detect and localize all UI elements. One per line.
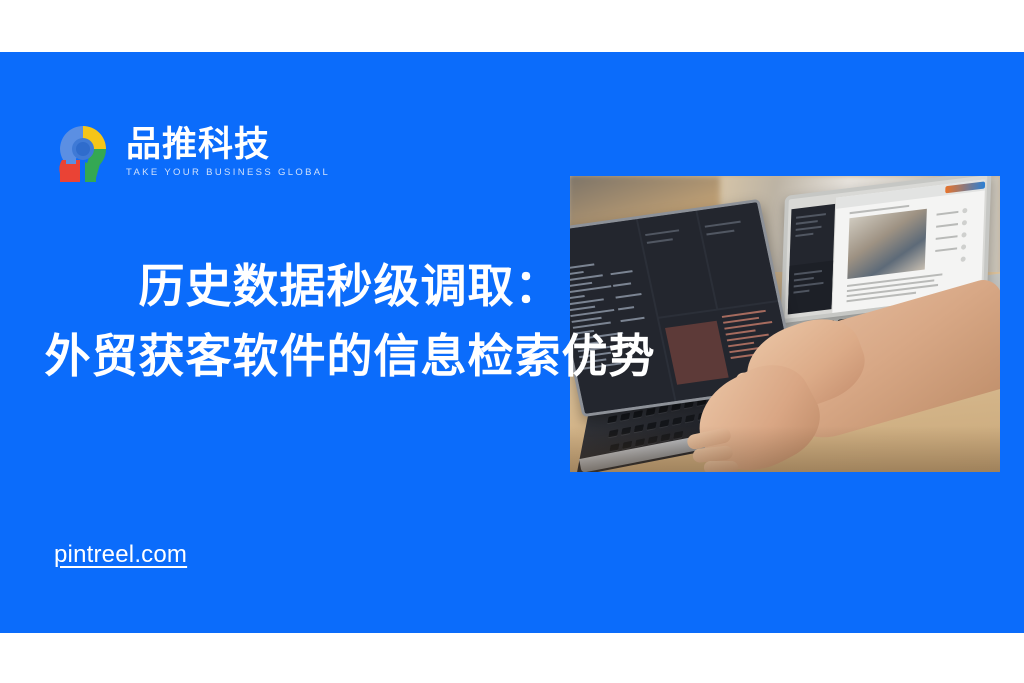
photo-scene	[570, 176, 1000, 472]
photo-desk-shadow	[570, 426, 1000, 472]
slide-canvas: 品推科技 TAKE YOUR BUSINESS GLOBAL	[0, 0, 1024, 683]
brand-logo[interactable]: 品推科技 TAKE YOUR BUSINESS GLOBAL	[52, 118, 330, 186]
brand-tagline: TAKE YOUR BUSINESS GLOBAL	[126, 167, 330, 178]
bottom-white-band	[0, 633, 1024, 683]
top-white-band	[0, 0, 1024, 52]
blue-background-panel: 品推科技 TAKE YOUR BUSINESS GLOBAL	[0, 52, 1024, 633]
brand-wordmark: 品推科技	[126, 127, 330, 164]
pintreel-logo-icon	[52, 118, 114, 186]
hero-photo	[570, 176, 1000, 472]
site-url-link[interactable]: pintreel.com	[54, 541, 187, 570]
brand-text: 品推科技 TAKE YOUR BUSINESS GLOBAL	[126, 125, 330, 178]
